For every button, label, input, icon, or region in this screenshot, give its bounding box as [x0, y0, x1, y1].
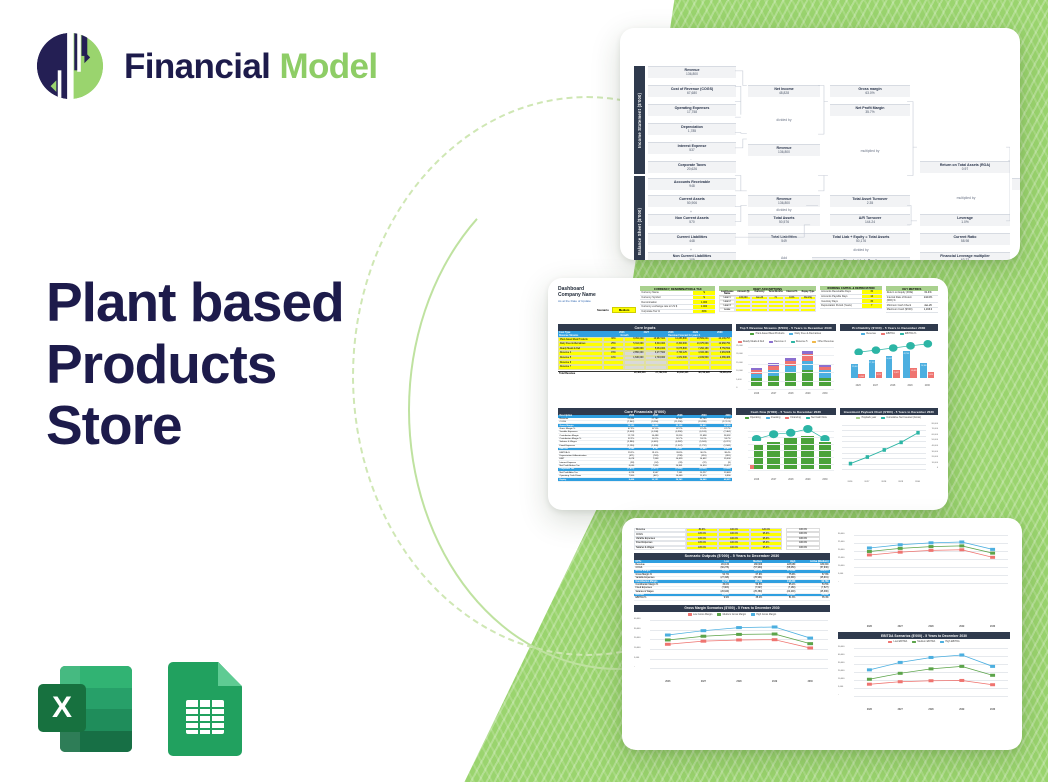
cf-value: 15,483 [684, 448, 708, 450]
cf-label: Contribution Margin [558, 434, 612, 436]
y-tick: 5,000 [634, 657, 639, 659]
legend-swatch [940, 641, 944, 643]
cf-label: Variable Expenses [558, 431, 612, 433]
cf-value: (1,330) [636, 445, 660, 447]
output-value: 116,960 [764, 594, 797, 596]
cf-label: COGS [558, 421, 612, 423]
google-sheets-icon[interactable] [168, 662, 242, 756]
x-tick: 2030 [990, 709, 995, 711]
output-value: 180,600 [731, 563, 764, 565]
cf-value: 67.2% [660, 428, 684, 430]
ci-value [645, 365, 667, 370]
output-value: (57,930) [731, 567, 764, 569]
legend-item: Revenue [861, 332, 876, 335]
node-is-0: Revenue 136,800 [648, 66, 736, 78]
y-tick: 20,000 [838, 549, 844, 551]
output-value: 180,600 [797, 563, 830, 565]
y-tick: 0 [736, 387, 737, 389]
ci-label: Revenue 7 [558, 365, 603, 370]
cf-label: EBITDA % [558, 451, 612, 453]
output-value: 122,670 [731, 570, 764, 572]
cf-value: (891) [708, 455, 732, 457]
output-value: 53.5% [731, 584, 764, 586]
brand-name-primary: Financial [124, 47, 270, 86]
y-tick: 10,000 [736, 370, 743, 372]
ci-total-value: 34,402,105 [668, 372, 689, 376]
panel-profitability: Profitability ($'000) - 5 Years to Decem… [840, 324, 938, 404]
output-label: EBITDA % [634, 597, 697, 599]
ci-growth [603, 365, 624, 370]
output-row: EBITDA %9.9%35.4%51.3%35.4% [634, 597, 830, 600]
output-value: 47,758 [697, 580, 730, 582]
output-value: (25,380) [797, 590, 830, 592]
op-plus-0: + [671, 210, 711, 214]
ci-total-value: 27,762,100 [647, 372, 668, 376]
kv-label: Denomination [640, 300, 693, 304]
debt-cell [735, 308, 751, 312]
output-value: (25,901) [731, 577, 764, 579]
x-tick: 2026 [848, 481, 853, 483]
cf-label: Equity [558, 478, 612, 480]
microsoft-excel-icon[interactable]: X [38, 662, 132, 756]
x-tick: 2029 [805, 479, 810, 481]
output-label: Revenue [634, 563, 697, 565]
cf-label: Gross Margin [558, 424, 612, 426]
cf-value: (3,403) [612, 431, 636, 433]
cf-row: Equity8,46416,15124,34334,64048,081 [558, 478, 732, 481]
x-tick: 2030 [915, 481, 920, 483]
kv-label: Currency Name [640, 291, 693, 295]
node-financial-leverage-multiplier: Financial Leverage multiplier 63.22 [920, 252, 1010, 260]
op-minus-0: - [671, 81, 711, 85]
line-overlay [850, 337, 936, 355]
y-tick: 20,000 [736, 353, 743, 355]
output-value: 67.9% [731, 574, 764, 576]
legend-label: EBITDA [886, 332, 895, 335]
cf-value: (1,712) [684, 445, 708, 447]
node-ar-turnover: A/R Turnover 144.24 [830, 214, 910, 226]
x-axis: 20262027202820292030 [650, 681, 828, 683]
node-is-5: Corporate Taxes 20,626 [648, 161, 736, 173]
bar-label: 6,549 [858, 376, 865, 378]
legend-label: Revenue 5 [796, 340, 808, 343]
legend-swatch [861, 333, 865, 335]
output-value: 63,862 [797, 594, 830, 596]
legend-label: Net Cash Flow [811, 416, 827, 419]
kv-row: Internal Rate of Return (IRR) %144.0% [886, 296, 938, 304]
gridline [748, 464, 833, 465]
cf-label: Operating Cash Flows [558, 475, 612, 477]
kv-value: 7 [862, 304, 882, 308]
kv-row: Maximum Cash ($'000)1,193.0 [886, 308, 938, 313]
file-format-icons: X [38, 662, 242, 756]
page-title: Plant based Products Store [46, 272, 446, 457]
kv-value: Jan-26 [918, 303, 938, 307]
bar-label: 24,380 [920, 365, 927, 367]
cf-value: 22,464 [612, 418, 636, 420]
y-tick: 25,000 [736, 345, 743, 347]
debt-cell [768, 308, 784, 312]
poster-canvas: Financial Model Plant based Products Sto… [0, 0, 1048, 782]
cf-value: 19,527 [708, 465, 732, 467]
cf-value: (11,296) [660, 421, 684, 423]
gridline [748, 364, 833, 365]
legend-item: Medium Gross Margin [717, 613, 746, 616]
legend-label: Low Gross Margin [693, 613, 712, 616]
kv-value: $ [693, 291, 715, 295]
bar-segment [785, 373, 796, 385]
side-label-balance-sheet: Balance Sheet ($'000) [634, 176, 645, 260]
y-tick: 15,000 [736, 362, 743, 364]
line-overlay [748, 425, 833, 441]
legend-label: Medium Gross Margin [723, 613, 747, 616]
node-total-asset-turnover: Total Asset Turnover 2.35 [830, 195, 910, 207]
cf-value: (798) [660, 455, 684, 457]
kv-label: Currency Symbol [640, 296, 693, 300]
legend-label: Cumulative Net Invested (Gross) [886, 416, 921, 419]
x-tick: 2029 [907, 385, 912, 387]
output-label: Contribution Margin [634, 580, 697, 582]
ci-total-label: Total Revenue [558, 372, 625, 376]
cf-value: 42,740 [684, 418, 708, 420]
cf-value: 31.4% [636, 451, 660, 453]
ci-value [710, 365, 732, 370]
x-tick: 2029 [772, 681, 777, 683]
kv-value: 14 [862, 295, 882, 299]
gridline [748, 444, 833, 445]
op-divided-0: divided by [764, 118, 804, 122]
y-tick: 0 [937, 467, 938, 469]
legend-label: High EBITDA [945, 640, 959, 643]
output-value: (7,527) [797, 587, 830, 589]
x-tick: 2026 [867, 626, 872, 628]
output-value: (26,649) [697, 590, 730, 592]
legend-label: Financing [790, 416, 800, 419]
legend-item: Net Cash Flow [806, 416, 827, 419]
kv-label: Accounts Payable Days [820, 295, 862, 299]
op-minus-4: - [671, 157, 711, 161]
x-axis: 20262027202820292030 [850, 385, 936, 387]
cf-label: EBIT [558, 458, 612, 460]
bar: 8,707 [876, 372, 883, 377]
output-value: 35.4% [731, 597, 764, 599]
kv-label: Currency exchange rate to US $ [640, 305, 693, 309]
cf-value: (28) [660, 461, 684, 463]
legend-label: Medium EBITDA [917, 640, 935, 643]
title-line-3: Store [46, 395, 446, 457]
screenshot-card-dashboard[interactable]: Dashboard Company Name As at the Date of… [548, 278, 948, 510]
cf-value: 52.2% [612, 438, 636, 440]
cf-value: 23,106 [660, 424, 684, 426]
legend-item: High Gross Margin [751, 613, 776, 616]
cf-value: 15,122 [612, 424, 636, 426]
node-is-4: Interest Expense 537 [648, 142, 736, 154]
legend-item: Medium EBITDA [912, 640, 935, 643]
kv-label: Return on Equity (ROE) [886, 291, 918, 295]
output-value: 96,769 [797, 580, 830, 582]
gridline [748, 457, 833, 458]
output-label: Gross Margin [634, 570, 697, 572]
output-value: 13,207 [697, 594, 730, 596]
bar-label: 15,483 [910, 370, 917, 372]
cf-value: (2,377) [636, 468, 660, 470]
output-value: (7,527) [731, 587, 764, 589]
output-value: 67.9% [797, 574, 830, 576]
cf-label: Revenue [558, 418, 612, 420]
legend-item: Other Revenue [812, 340, 833, 343]
assumption-value: 105.0% [686, 546, 718, 550]
scenario-outputs-table: KPI'sLowMediumHighActive (Medium)Revenue… [634, 560, 830, 601]
y-tick: 10,000 [634, 647, 640, 649]
legend-swatch [745, 417, 749, 419]
output-label: EBITDA [634, 594, 697, 596]
panel-cashflow: Cash flow ($'000) - 5 Years to December … [736, 408, 835, 500]
legend-swatch [812, 341, 816, 343]
cf-value: 7,900 [612, 475, 636, 477]
cf-value: (7,342) [612, 421, 636, 423]
panel-top5-revenue: Top 5 Revenue Streams ($'000) - 5 Years … [736, 324, 835, 404]
legend-swatch [881, 417, 885, 419]
cf-value: 67.7% [708, 428, 732, 430]
debt-cell [751, 308, 767, 312]
cf-value: (641) [636, 475, 660, 477]
node-roa: Return on Total Assets (ROA) 0.97 [920, 161, 1010, 173]
legend-item: Low EBITDA [888, 640, 907, 643]
cf-value: 67.0% [636, 428, 660, 430]
cf-value: (6,221) [708, 441, 732, 443]
cf-value: (17,174) [708, 421, 732, 423]
brand-logo: Financial Model [34, 30, 378, 102]
cf-value: 10,669 [660, 475, 684, 477]
legend-label: Other Revenue [818, 340, 834, 343]
cf-value: 13,669 [708, 472, 732, 474]
legend-swatch [806, 417, 810, 419]
x-axis: 20262027202820292030 [854, 626, 1008, 628]
cf-value: (4,108) [636, 431, 660, 433]
legend-item: Investing [766, 416, 781, 419]
bar: 27,762 [869, 360, 876, 377]
cf-value: (749) [636, 455, 660, 457]
gridline [748, 347, 833, 348]
cf-value: (1,812) [612, 468, 636, 470]
x-tick: 2027 [873, 385, 878, 387]
cf-value: 11,719 [612, 434, 636, 436]
x-tick: 2026 [754, 479, 759, 481]
panel-key-metrics: KEY METRICS Return on Equity (ROE)61.4%I… [886, 286, 938, 313]
panel-core-inputs: Core Inputs Cost Type2026202720282029203… [558, 324, 732, 404]
output-label: COGS [634, 567, 697, 569]
node-is-3: Depreciation 1,785 [648, 123, 736, 135]
output-value: 65.1% [764, 584, 797, 586]
cf-value: 14,610 [684, 465, 708, 467]
cf-value: (9) [708, 461, 732, 463]
y-tick: 20,000 [838, 670, 844, 672]
cf-value: 67.4% [684, 428, 708, 430]
cf-label: Net Profit After Tax [558, 472, 612, 474]
ci-total-value: 22,464,000 [625, 372, 646, 376]
ci-value [667, 365, 689, 370]
brand-wordmark: Financial Model [124, 49, 378, 84]
cf-value: 53,230 [708, 418, 732, 420]
x-tick: 2027 [864, 481, 869, 483]
ebitda-chart: 50,00040,00030,00020,00010,0005,000-2026… [838, 645, 1010, 707]
debt-row: Lease [719, 308, 816, 312]
legend-item: High EBITDA [940, 640, 959, 643]
cf-label: EBITDA [558, 448, 612, 450]
kv-label: Accounts Receivable Days [820, 290, 862, 294]
bar-segment [802, 361, 813, 370]
panel-debt: DEBT ASSUMPTIONS Loan/Lease NameAmount (… [719, 286, 816, 312]
cf-value: 27,762 [636, 418, 660, 420]
cf-value: 53.1% [684, 438, 708, 440]
cf-value: (1,944) [708, 445, 732, 447]
y-tick: - [634, 666, 635, 668]
output-value: (27,196) [697, 577, 730, 579]
cf-value: (7,464) [708, 431, 732, 433]
output-value: 96,769 [731, 580, 764, 582]
cf-value: 16,151 [636, 478, 660, 480]
cf-value: (5,503) [684, 441, 708, 443]
x-tick: 2029 [898, 481, 903, 483]
output-value: 54.7% [697, 574, 730, 576]
cf-value: 48,081 [708, 478, 732, 480]
kv-value: 61.4% [918, 291, 938, 295]
output-value: (55,050) [764, 567, 797, 569]
cf-value: 28,592 [708, 434, 732, 436]
cf-value: (4,383) [684, 468, 708, 470]
output-value: 173,030 [764, 570, 797, 572]
bar-segment [819, 378, 830, 386]
x-tick: 2028 [788, 393, 793, 395]
cf-value: 36.2% [684, 451, 708, 453]
cf-value: 10,227 [684, 472, 708, 474]
op-minus-1: - [671, 100, 711, 104]
scenario-assumptions-table: Revenue80.0%100.0%120.0%100.0%COGS105.0%… [634, 528, 830, 550]
legend-label: EBITDA % [905, 332, 916, 335]
op-divided-1: divided by [764, 208, 804, 212]
kv-label: Internal Rate of Return (IRR) % [886, 296, 918, 303]
y-tick: 70,000 [932, 428, 938, 430]
legend-item: EBITDA [881, 332, 895, 335]
dashboard-sheet: Dashboard Company Name As at the Date of… [548, 278, 948, 510]
debt-cell [784, 308, 800, 312]
legend-item: Dairy Free & Alternatives [789, 332, 821, 335]
scenario-value[interactable]: Medium [612, 307, 637, 313]
bar: 34,402 [886, 356, 893, 377]
cf-value: 6,549 [612, 448, 636, 450]
gross-margin-header: Gross Margin Scenarios ($'000) - 5 Years… [634, 605, 830, 612]
node-mid-revenue: Revenue 136,800 [748, 144, 820, 156]
output-value: 148,340 [764, 580, 797, 582]
cf-value: 33.8% [660, 451, 684, 453]
panel-currency: CURRENCY, DENOMINATION & TAX Currency Na… [640, 286, 715, 314]
legend-label: Payback year [862, 416, 876, 419]
cf-value: (5,858) [708, 468, 732, 470]
x-tick: 2027 [898, 626, 903, 628]
bar-segment [751, 378, 762, 385]
x-tick: 2030 [925, 385, 930, 387]
cf-value: 36,056 [708, 424, 732, 426]
legend-label: Revenue 4 [774, 340, 786, 343]
op-plus-1: + [671, 248, 711, 252]
cf-value: (4,461) [636, 441, 660, 443]
cf-value: 8,464 [612, 478, 636, 480]
screenshot-card-scenarios[interactable]: Revenue80.0%100.0%120.0%100.0%COGS105.0%… [622, 518, 1022, 750]
output-value: 75.9% [764, 574, 797, 576]
node-leverage: Leverage 1.0% [920, 214, 1010, 226]
node-mid-total-liabilities: Total Liabilities 549 [748, 233, 820, 245]
sheets-grid-glyph [186, 700, 224, 734]
y-tick: 10,000 [838, 678, 844, 680]
legend-item: Payback year [856, 416, 876, 419]
x-tick: 2028 [736, 681, 741, 683]
assumption-label: Salaries & Wages [634, 546, 686, 550]
cf-value: 67.3% [612, 428, 636, 430]
cf-value: (38) [612, 461, 636, 463]
legend-swatch [769, 341, 773, 343]
node-is-2: Operating Expenses 17,758 [648, 104, 736, 116]
cf-value: 34,640 [684, 478, 708, 480]
output-value: 51.3% [764, 597, 797, 599]
output-value: 133,130 [697, 563, 730, 565]
legend-swatch [750, 333, 754, 335]
y-tick: 20,000 [932, 456, 938, 458]
cf-label: Corporate Tax [558, 468, 612, 470]
cf-value: 52.2% [636, 438, 660, 440]
y-tick: 20,000 [634, 637, 640, 639]
y-tick: 5,000 [736, 379, 741, 381]
op-divided-2: divided by [841, 248, 881, 252]
ci-value [689, 365, 711, 370]
legend-label: Operating [750, 416, 761, 419]
op-minus-3: - [671, 138, 711, 142]
cf-value: 4,228 [612, 472, 636, 474]
output-label: Fixed Expenses [634, 587, 697, 589]
y-tick: 15,000 [838, 557, 844, 559]
screenshot-card-dupont[interactable]: Income Statement ($'000) Balance Sheet (… [620, 28, 1020, 260]
legend-label: Plant-based Meat Products [756, 332, 785, 335]
kv-label: Minimum Cash Check [886, 303, 918, 307]
legend-label: Revenue [866, 332, 876, 335]
legend-swatch [785, 417, 789, 419]
cf-value: (1,507) [660, 445, 684, 447]
y-tick: 40,000 [932, 445, 938, 447]
output-value: 72,854 [697, 570, 730, 572]
kv-value: 1.000 [693, 305, 715, 309]
kv-row: Corporate Tax %30% [640, 310, 715, 315]
legend-item: Revenue 5 [791, 340, 808, 343]
x-axis: 20262027202820292030 [854, 709, 1008, 711]
legend-swatch [766, 417, 770, 419]
node-mid-net-income: Net Income 48,828 [748, 85, 820, 97]
assumption-row: Salaries & Wages105.0%100.0%95.0%100.0% [634, 546, 830, 550]
y-tick: 40,000 [634, 618, 640, 620]
legend-label: Dairy Free & Alternatives [795, 332, 821, 335]
cf-value: (1,190) [612, 445, 636, 447]
cf-value: 34,402 [660, 418, 684, 420]
legend-swatch [881, 333, 885, 335]
legend-swatch [738, 341, 742, 343]
x-tick: 2030 [822, 393, 827, 395]
title-line-2: Products [46, 334, 446, 396]
cf-value: 14,498 [636, 434, 660, 436]
gridline [748, 389, 833, 390]
legend-swatch [717, 613, 721, 615]
gridline [748, 355, 833, 356]
x-tick: 2027 [701, 681, 706, 683]
output-value: (7,903) [697, 587, 730, 589]
y-tick: 40,000 [838, 654, 844, 656]
